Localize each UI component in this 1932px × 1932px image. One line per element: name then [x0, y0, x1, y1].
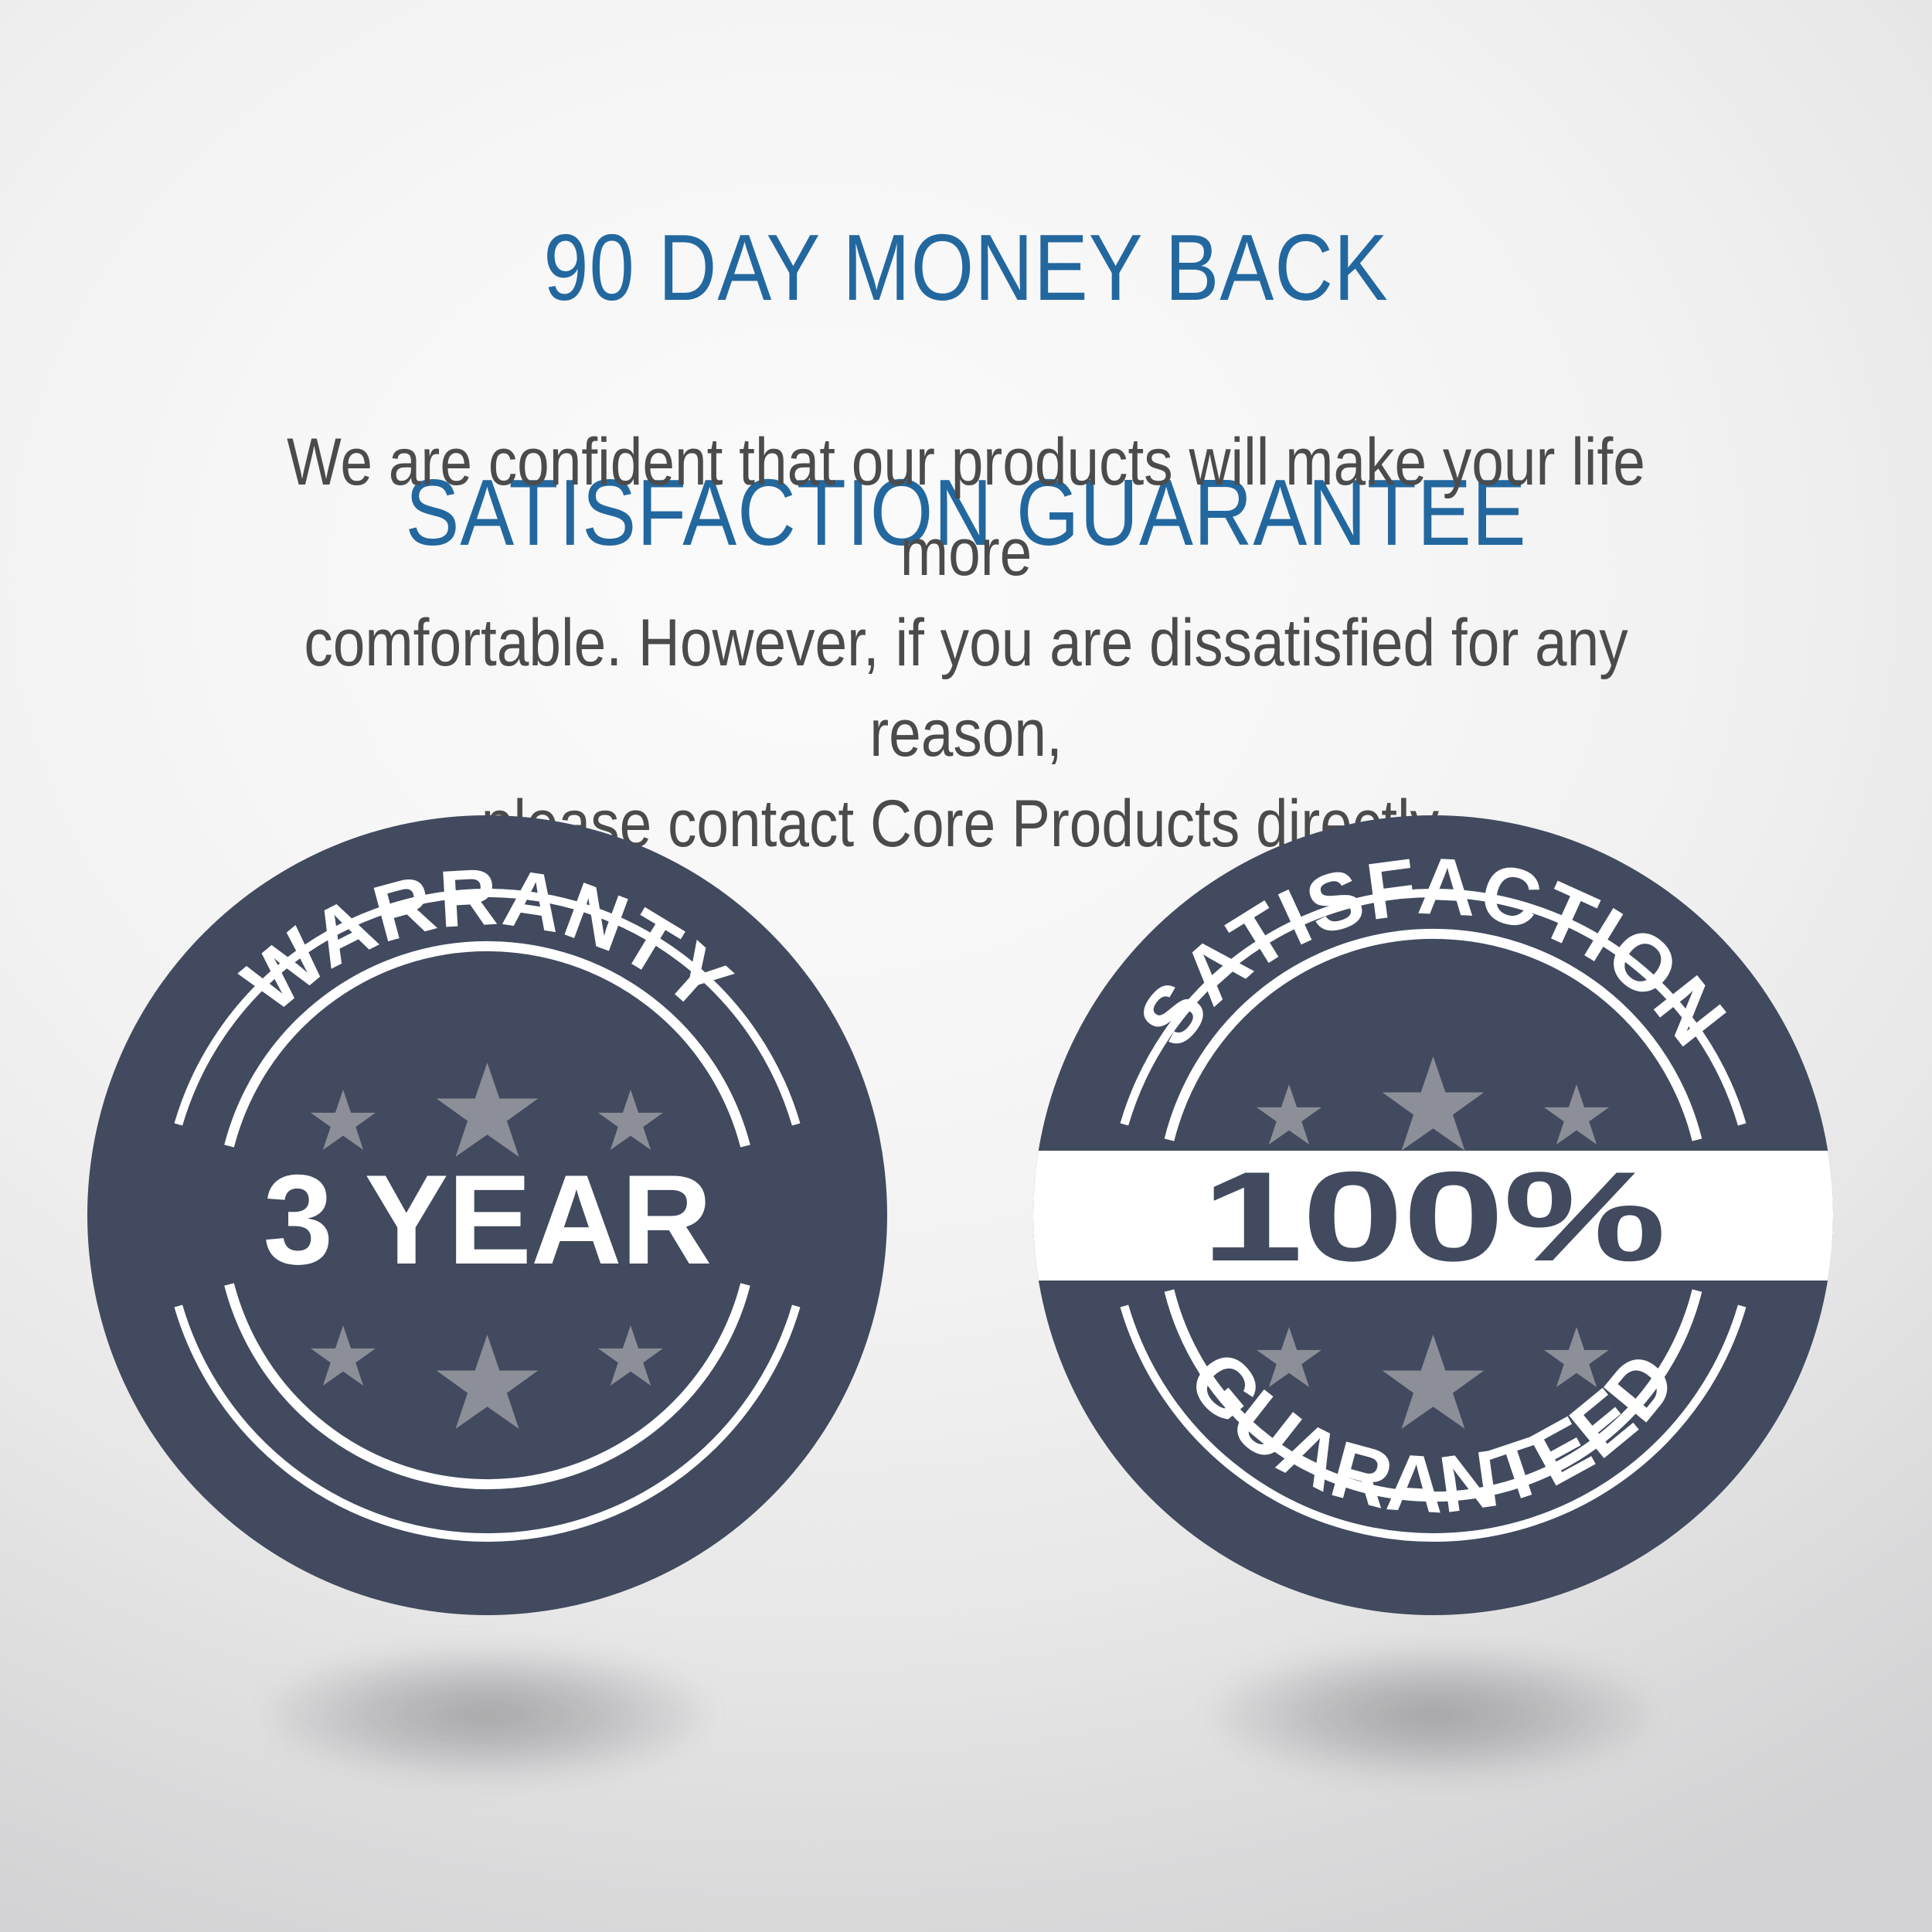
guarantee-graphic: 90 DAY MONEY BACK SATISFACTION GUARANTEE… [0, 0, 1932, 1932]
guarantee-description: We are confident that our products will … [226, 417, 1706, 869]
satisfaction-center-text: 100% [1202, 1145, 1665, 1287]
badge-row: WARRANTY 3 YEAR [0, 815, 1932, 1820]
description-line-2: comfortable. However, if you are dissati… [226, 598, 1706, 779]
warranty-badge-graphic: WARRANTY 3 YEAR [87, 815, 887, 1615]
warranty-center-text: 3 YEAR [264, 1148, 712, 1291]
satisfaction-badge-shadow [1217, 1648, 1650, 1780]
satisfaction-badge: SATISFACTION GUARANTEED 100% [1033, 815, 1833, 1727]
warranty-badge-shadow [271, 1648, 704, 1780]
warranty-badge: WARRANTY 3 YEAR [87, 815, 887, 1727]
description-line-1: We are confident that our products will … [226, 417, 1706, 598]
page-title-line-1: 90 DAY MONEY BACK [135, 206, 1797, 329]
satisfaction-badge-graphic: SATISFACTION GUARANTEED 100% [1033, 815, 1833, 1615]
